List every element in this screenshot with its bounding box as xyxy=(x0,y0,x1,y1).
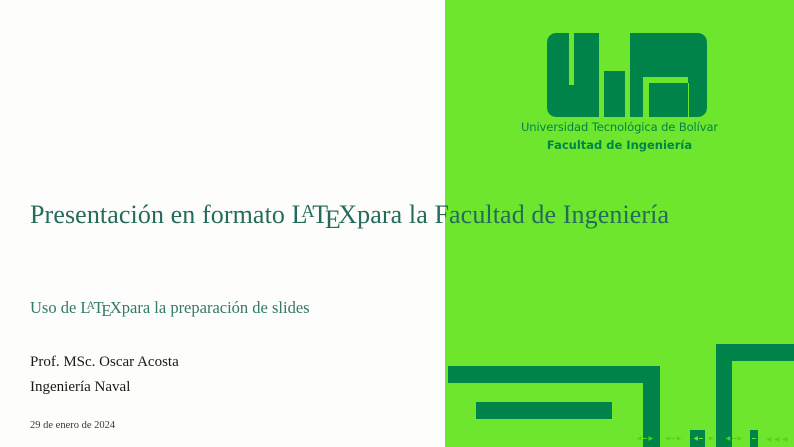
slide-title: Presentación en formato LATEXpara la Fac… xyxy=(30,200,669,230)
latex-e: E xyxy=(101,301,111,320)
logo-faculty-name: Facultad de Ingeniería xyxy=(445,138,794,154)
nav-group-3-current[interactable]: ◀ xyxy=(690,430,706,447)
nav-prev-icon[interactable]: ◀ xyxy=(724,436,732,442)
latex-a: A xyxy=(301,201,314,221)
nav-next-icon[interactable]: ▶ xyxy=(736,436,744,442)
author-institute: Ingeniería Naval xyxy=(30,379,130,396)
slide-subtitle: Uso de LATEXpara la preparación de slide… xyxy=(30,298,310,318)
logo-caption: Universidad Tecnológica de Bolívar Facul… xyxy=(445,120,794,153)
decorative-bar-right-horizontal xyxy=(716,344,794,361)
nav-group-4[interactable]: ◀ ▶ xyxy=(722,430,745,447)
nav-prev-icon[interactable]: ◀ xyxy=(664,436,672,442)
author-name: Prof. MSc. Oscar Acosta xyxy=(30,354,179,371)
decorative-bar-top xyxy=(448,366,660,383)
nav-group-2[interactable]: ◀ ▶ xyxy=(662,430,685,447)
decorative-bar-inner xyxy=(476,402,612,419)
latex-e: E xyxy=(325,205,341,234)
nav-next-icon[interactable]: ▶ xyxy=(675,436,683,442)
subtitle-part-1: Uso de xyxy=(30,298,80,317)
title-part-1: Presentación en formato xyxy=(30,200,292,229)
title-part-2: para la Facultad de Ingeniería xyxy=(357,200,669,229)
nav-prev-icon[interactable]: ◀ xyxy=(692,436,700,442)
latex-a: A xyxy=(87,300,95,312)
presentation-date: 29 de enero de 2024 xyxy=(30,420,115,431)
beamer-navigation-bar[interactable]: ◀ ▶ ◀ ▶ ◀ ▶ ◀ ▶ ◀ ◀ ◀ xyxy=(445,430,794,447)
latex-logo-subtitle: LATEX xyxy=(80,298,121,317)
nav-group-1[interactable]: ◀ ▶ xyxy=(633,430,656,447)
nav-section-label[interactable] xyxy=(699,438,703,439)
nav-frame-indicator[interactable] xyxy=(750,430,758,447)
nav-group-3-tail[interactable]: ▶ xyxy=(705,430,717,447)
nav-back-icons[interactable]: ◀ ◀ ◀ xyxy=(758,435,794,443)
latex-x: X xyxy=(338,200,357,229)
nav-next-icon[interactable]: ▶ xyxy=(707,436,715,442)
utb-logo xyxy=(547,33,707,117)
nav-prev-icon[interactable]: ◀ xyxy=(635,436,643,442)
nav-next-icon[interactable]: ▶ xyxy=(647,436,655,442)
latex-logo: LATEX xyxy=(292,200,358,229)
nav-frame-label[interactable] xyxy=(752,438,756,439)
logo-university-name: Universidad Tecnológica de Bolívar xyxy=(445,120,794,136)
latex-x: X xyxy=(110,298,122,317)
subtitle-part-2: para la preparación de slides xyxy=(122,298,310,317)
presentation-slide: Universidad Tecnológica de Bolívar Facul… xyxy=(0,0,794,447)
